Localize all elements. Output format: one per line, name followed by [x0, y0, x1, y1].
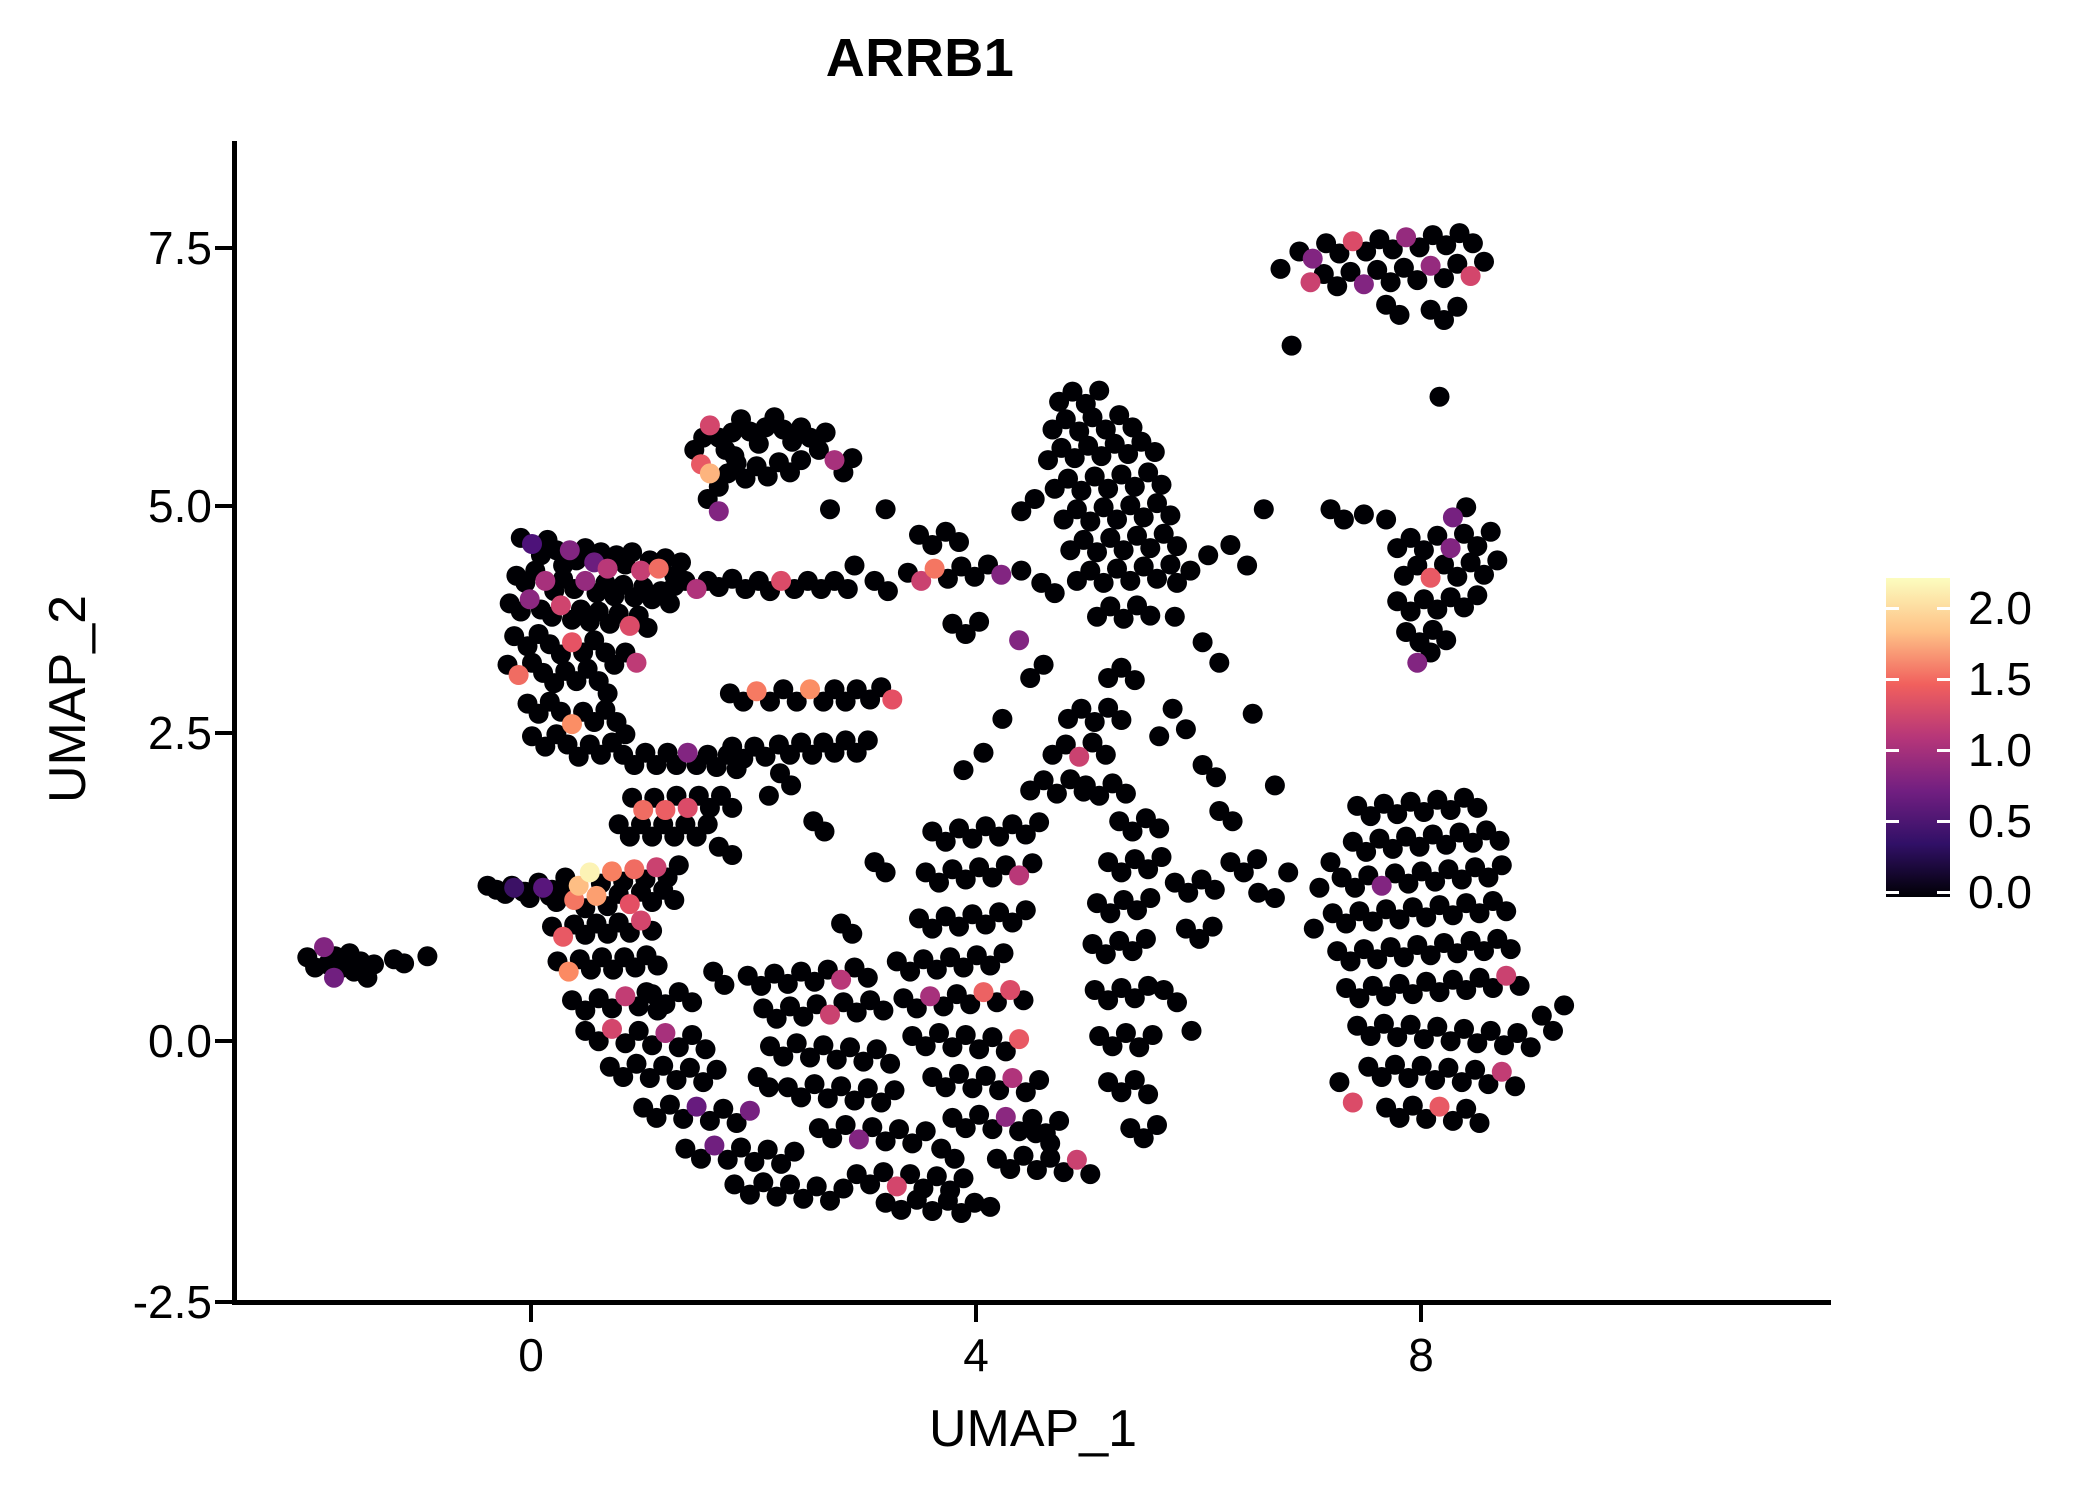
colorbar-tick-1-0-left	[1886, 749, 1899, 752]
x-tick-mark-0	[529, 1305, 533, 1322]
x-tick-label-8: 8	[1361, 1330, 1481, 1380]
y-axis-line	[232, 141, 237, 1305]
colorbar-label-2-0: 2.0	[1968, 585, 2032, 631]
colorbar-tick-0-5-left	[1886, 820, 1899, 823]
colorbar-tick-0-0-right	[1937, 891, 1950, 894]
y-tick-mark-0-0	[215, 1039, 232, 1043]
colorbar-tick-1-0-right	[1937, 749, 1950, 752]
plot-panel	[235, 141, 1831, 1302]
y-tick-mark-7-5	[215, 246, 232, 250]
y-tick-label-neg2-5: -2.5	[133, 1279, 212, 1325]
x-tick-label-0: 0	[471, 1330, 591, 1380]
colorbar-label-0-0: 0.0	[1968, 869, 2032, 915]
feature-plot-page: ARRB1 7.5 5.0 2.5 0.0 -2.5 0 4 8 UMAP_1 …	[0, 0, 2100, 1500]
x-axis-title: UMAP_1	[235, 1400, 1831, 1458]
colorbar-label-1-5: 1.5	[1968, 656, 2032, 702]
colorbar-tick-1-5-left	[1886, 678, 1899, 681]
y-tick-label-0-0: 0.0	[148, 1018, 212, 1064]
x-tick-mark-8	[1419, 1305, 1423, 1322]
colorbar-tick-2-0-left	[1886, 607, 1899, 610]
x-axis-line	[235, 1300, 1831, 1305]
colorbar-tick-0-0-left	[1886, 891, 1899, 894]
y-tick-label-2-5: 2.5	[148, 710, 212, 756]
legend-colorbar: 2.0 1.5 1.0 0.5 0.0	[1886, 578, 2086, 898]
page-title: ARRB1	[0, 28, 1840, 88]
y-tick-label-7-5: 7.5	[148, 225, 212, 271]
colorbar-label-1-0: 1.0	[1968, 727, 2032, 773]
y-tick-label-5-0: 5.0	[148, 483, 212, 529]
y-tick-mark-2-5	[215, 731, 232, 735]
y-tick-mark-neg2-5	[215, 1300, 232, 1304]
colorbar-tick-2-0-right	[1937, 607, 1950, 610]
colorbar-gradient	[1886, 578, 1950, 897]
y-axis-title: UMAP_2	[39, 339, 97, 1059]
colorbar-label-0-5: 0.5	[1968, 798, 2032, 844]
colorbar-tick-1-5-right	[1937, 678, 1950, 681]
y-tick-mark-5-0	[215, 504, 232, 508]
x-tick-mark-4	[974, 1305, 978, 1322]
scatter-points-layer	[235, 141, 1831, 1302]
x-tick-label-4: 4	[916, 1330, 1036, 1380]
colorbar-tick-0-5-right	[1937, 820, 1950, 823]
